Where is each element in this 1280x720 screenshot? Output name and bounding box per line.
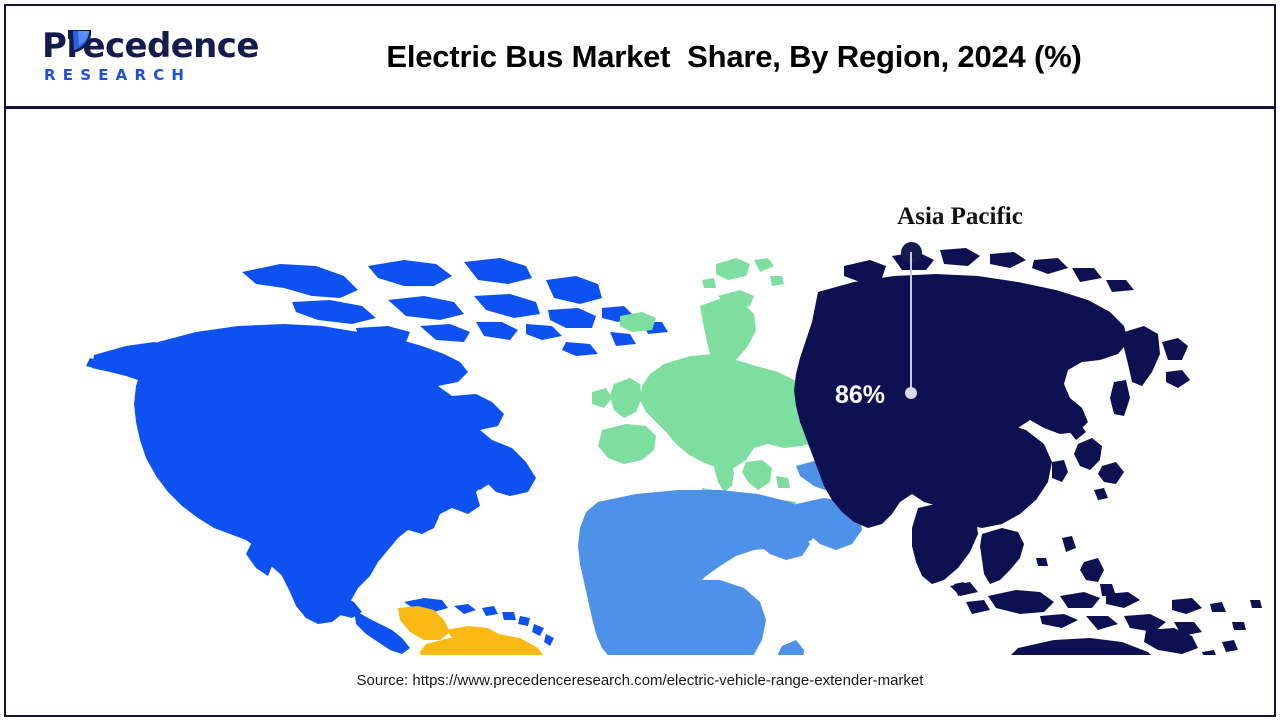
source-citation: Source: https://www.precedenceresearch.c…: [4, 672, 1276, 689]
precedence-research-logo: Precedence RESEARCH: [18, 26, 228, 90]
region-asia-pacific[interactable]: [794, 248, 1262, 655]
header-bar: Precedence RESEARCH Electric Bus Market …: [4, 4, 1276, 109]
precedence-p-mark-icon: [65, 28, 95, 58]
region-north-america[interactable]: [86, 258, 668, 654]
world-map-container: [6, 110, 1274, 655]
page-title: Electric Bus Market Share, By Region, 20…: [254, 4, 1214, 109]
region-latin-america[interactable]: [398, 606, 554, 655]
world-map-svg: [6, 110, 1274, 655]
logo-subtitle: RESEARCH: [44, 66, 191, 84]
infographic-root: Precedence RESEARCH Electric Bus Market …: [0, 0, 1280, 720]
